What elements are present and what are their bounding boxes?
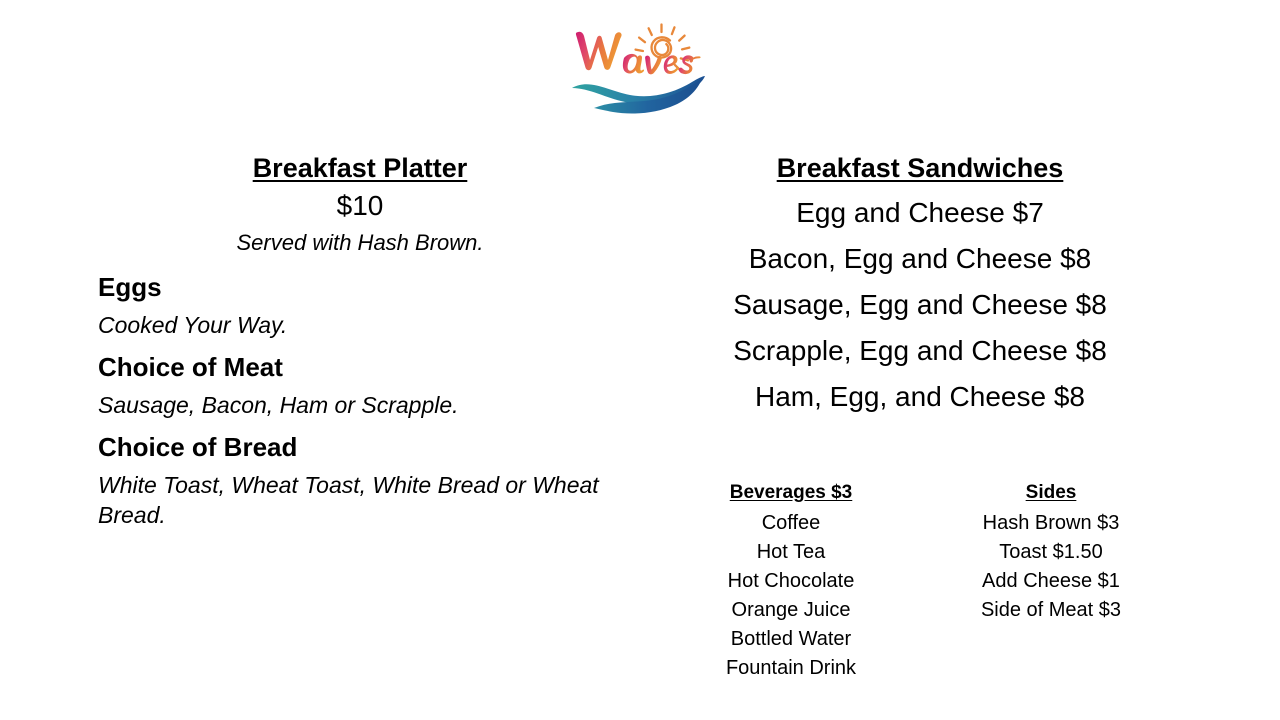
breakfast-platter-price: $10 <box>80 186 640 226</box>
breakfast-sandwiches-title: Breakfast Sandwiches <box>660 150 1180 186</box>
beverages-title: Beverages $3 <box>660 480 922 506</box>
platter-option-description: Cooked Your Way. <box>98 310 640 340</box>
list-item: Toast $1.50 <box>922 538 1180 567</box>
list-item: Bottled Water <box>660 625 922 654</box>
list-item: Fountain Drink <box>660 654 922 683</box>
list-item: Side of Meat $3 <box>922 596 1180 625</box>
beverages-list: Coffee Hot Tea Hot Chocolate Orange Juic… <box>660 509 922 683</box>
platter-option-heading: Eggs <box>98 270 640 304</box>
list-item: Hot Chocolate <box>660 567 922 596</box>
list-item: Hot Tea <box>660 538 922 567</box>
list-item: Add Cheese $1 <box>922 567 1180 596</box>
list-item: Sausage, Egg and Cheese $8 <box>660 282 1180 328</box>
breakfast-platter-section: Breakfast Platter $10 Served with Hash B… <box>80 150 640 530</box>
breakfast-platter-title: Breakfast Platter <box>80 150 640 186</box>
platter-option-heading: Choice of Meat <box>98 350 640 384</box>
wave-graphic <box>572 76 705 114</box>
platter-option-description: White Toast, Wheat Toast, White Bread or… <box>98 470 640 530</box>
list-item: Bacon, Egg and Cheese $8 <box>660 236 1180 282</box>
platter-option-bread: Choice of Bread White Toast, Wheat Toast… <box>80 430 640 530</box>
platter-option-eggs: Eggs Cooked Your Way. <box>80 270 640 340</box>
list-item: Egg and Cheese $7 <box>660 190 1180 236</box>
platter-option-meat: Choice of Meat Sausage, Bacon, Ham or Sc… <box>80 350 640 420</box>
breakfast-platter-note: Served with Hash Brown. <box>80 226 640 260</box>
beverages-section: Beverages $3 Coffee Hot Tea Hot Chocolat… <box>660 480 922 683</box>
list-item: Orange Juice <box>660 596 922 625</box>
waves-logo <box>566 8 726 120</box>
platter-option-description: Sausage, Bacon, Ham or Scrapple. <box>98 390 640 420</box>
bottom-columns: Beverages $3 Coffee Hot Tea Hot Chocolat… <box>660 480 1180 683</box>
list-item: Scrapple, Egg and Cheese $8 <box>660 328 1180 374</box>
sides-section: Sides Hash Brown $3 Toast $1.50 Add Chee… <box>922 480 1180 625</box>
breakfast-sandwiches-list: Egg and Cheese $7 Bacon, Egg and Cheese … <box>660 190 1180 420</box>
sides-title: Sides <box>922 480 1180 506</box>
list-item: Hash Brown $3 <box>922 509 1180 538</box>
sides-list: Hash Brown $3 Toast $1.50 Add Cheese $1 … <box>922 509 1180 625</box>
list-item: Coffee <box>660 509 922 538</box>
sun-icon <box>636 25 690 71</box>
breakfast-sandwiches-section: Breakfast Sandwiches Egg and Cheese $7 B… <box>660 150 1180 420</box>
platter-option-heading: Choice of Bread <box>98 430 640 464</box>
list-item: Ham, Egg, and Cheese $8 <box>660 374 1180 420</box>
